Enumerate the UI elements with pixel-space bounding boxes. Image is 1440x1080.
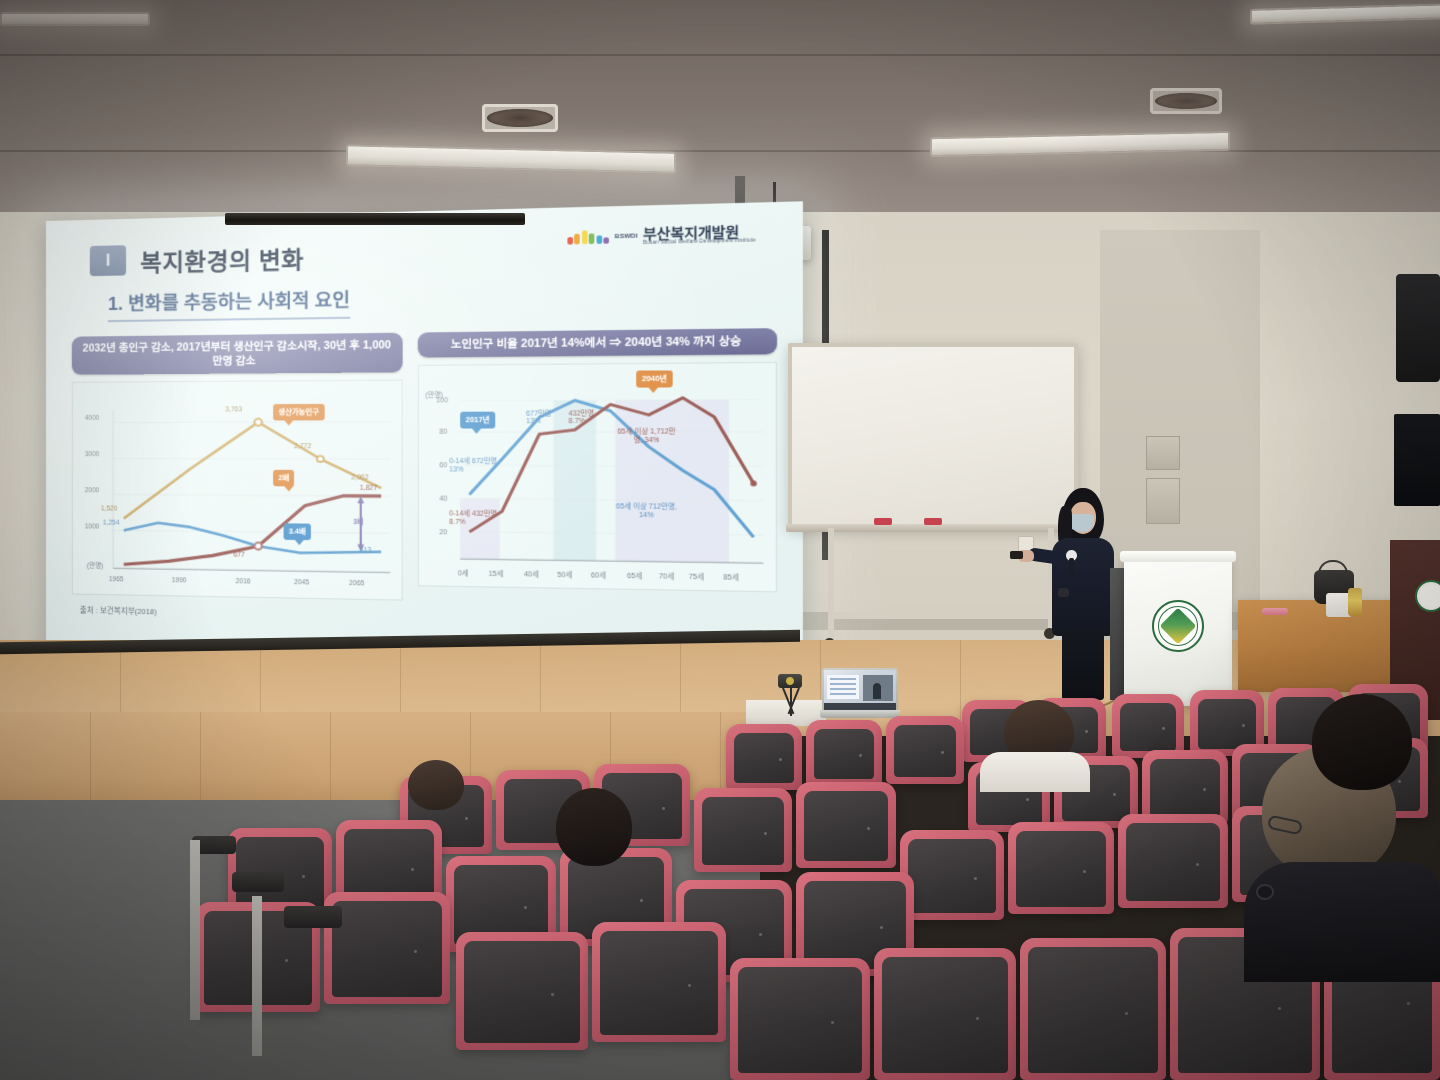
seat[interactable] [456,932,588,1050]
seat[interactable] [900,830,1004,920]
wall-speaker [1396,274,1440,382]
whiteboard-stand-leg [828,528,834,646]
wall-access-panel [1146,436,1180,470]
callout-productive-population: 생산가능인구 [273,404,324,421]
aisle-rail [252,896,262,1056]
population-trend-svg [73,381,402,600]
wall-access-panel [1146,478,1180,524]
seat[interactable] [1142,750,1228,824]
seat[interactable] [874,948,1016,1080]
seat[interactable] [592,922,726,1042]
ceiling-air-vent [1150,88,1222,114]
wall-monitor [1394,414,1440,506]
badge-year-2040: 2040년 [636,370,673,387]
seat[interactable] [806,720,882,786]
chart-age-structure-title: 노인인구 비율 2017년 14%에서 ⇒ 2040년 34% 까지 상승 [418,328,777,358]
microphone-handle [1069,558,1074,580]
seat[interactable] [886,716,964,784]
pink-phone [1262,608,1288,615]
laptop-video-window [863,675,893,701]
slide-source-note: 출처 : 보건복지부(2018) [72,605,777,631]
callout-three-point-four: 3.4배 [284,524,312,541]
camera-lens-icon [786,677,794,685]
slide-title: 복지환경의 변화 [140,240,304,278]
institute-logo: BSWDI 부산복지개발원 Busan Social Welfare Devel… [567,224,756,247]
projection-screen-roller [225,213,525,225]
badge-year-2017: 2017년 [460,412,495,429]
seat-armrest [284,906,342,928]
audience-shoulders-foreground [1244,862,1440,982]
seat-armrest [232,872,284,892]
seat[interactable] [1008,822,1114,914]
lectern-crest-icon [1415,580,1440,612]
age-structure-svg [419,363,776,591]
seat[interactable] [730,958,870,1080]
audience-head-behind [1312,694,1412,790]
beverage-bottle [1348,588,1362,616]
logo-dots-icon [567,230,609,245]
wristwatch-audience [1256,884,1274,900]
whiteboard-eraser [924,518,942,525]
callout-two-fold: 2배 [273,470,294,487]
logo-abbreviation: BSWDI [615,234,638,241]
aisle-rail [190,840,200,1020]
whiteboard-eraser [874,518,892,525]
ceiling-light-fixture [0,12,150,26]
wristwatch [1058,588,1069,597]
presenter-face-mask [1069,514,1094,532]
seat[interactable] [694,788,792,872]
ceiling-light-fixture [346,144,676,173]
seat[interactable] [324,892,450,1004]
lecture-hall-photo: I 복지환경의 변화 BSWDI 부산복지개발원 [0,0,1440,1080]
audience-shoulders [980,752,1090,792]
laptop-screen [824,670,896,710]
whiteboard [788,343,1078,528]
seat[interactable] [1112,694,1184,758]
seat[interactable] [1118,814,1228,908]
presenter-laptop[interactable] [822,668,898,712]
projection-screen: I 복지환경의 변화 BSWDI 부산복지개발원 [46,201,803,675]
chart-population-trend: 2032년 총인구 감소, 2017년부터 생산인구 감소시작, 30년 후 1… [72,333,403,601]
label-children-2017: 0-14세 672만명 13% [449,458,497,475]
podium-crest-icon [1152,600,1204,652]
seat[interactable] [726,724,802,790]
podium-top-surface [1120,551,1236,562]
ceiling [0,0,1440,232]
seat[interactable] [1020,938,1166,1080]
slide-subtitle: 1. 변화를 추동하는 사회적 요인 [108,286,350,323]
chart-population-trend-plot: 4000 3000 2000 1000 (만명) 1965 1990 2016 … [72,380,403,601]
label-elderly-2017: 65세 이상 712만명, 14% [614,503,680,521]
ceiling-air-vent [482,104,558,132]
laptop-base [820,710,900,718]
audience-head [556,788,632,866]
podium [1124,558,1232,706]
presentation-slide: I 복지환경의 변화 BSWDI 부산복지개발원 [46,201,803,675]
label-elderly-2040: 65세 이상 1,712만명, 34% [614,428,680,445]
chart-age-structure-plot: (만명) 100 80 60 40 20 0세 15세 40세 50세 60세 … [418,362,777,593]
seat[interactable] [796,782,896,868]
label-children-2040: 0-14세 432만명 8.7% [449,510,497,528]
ceiling-light-fixture [1250,3,1440,25]
laptop-taskbar [824,703,896,710]
slide-charts-row: 2032년 총인구 감소, 2017년부터 생산인구 감소시작, 30년 후 1… [72,328,777,608]
audience-head [408,760,464,810]
ceiling-light-fixture [930,131,1230,157]
chart-age-structure: 노인인구 비율 2017년 14%에서 ⇒ 2040년 34% 까지 상승 [418,328,777,608]
slide-section-tag: I [90,245,126,276]
whiteboard-stand-base [830,612,1054,619]
chart-population-trend-title: 2032년 총인구 감소, 2017년부터 생산인구 감소시작, 30년 후 1… [72,333,403,375]
presentation-clicker [1010,551,1023,559]
laptop-document-window [827,675,859,699]
logo-english-name: Busan Social Welfare Development Institu… [643,238,756,245]
